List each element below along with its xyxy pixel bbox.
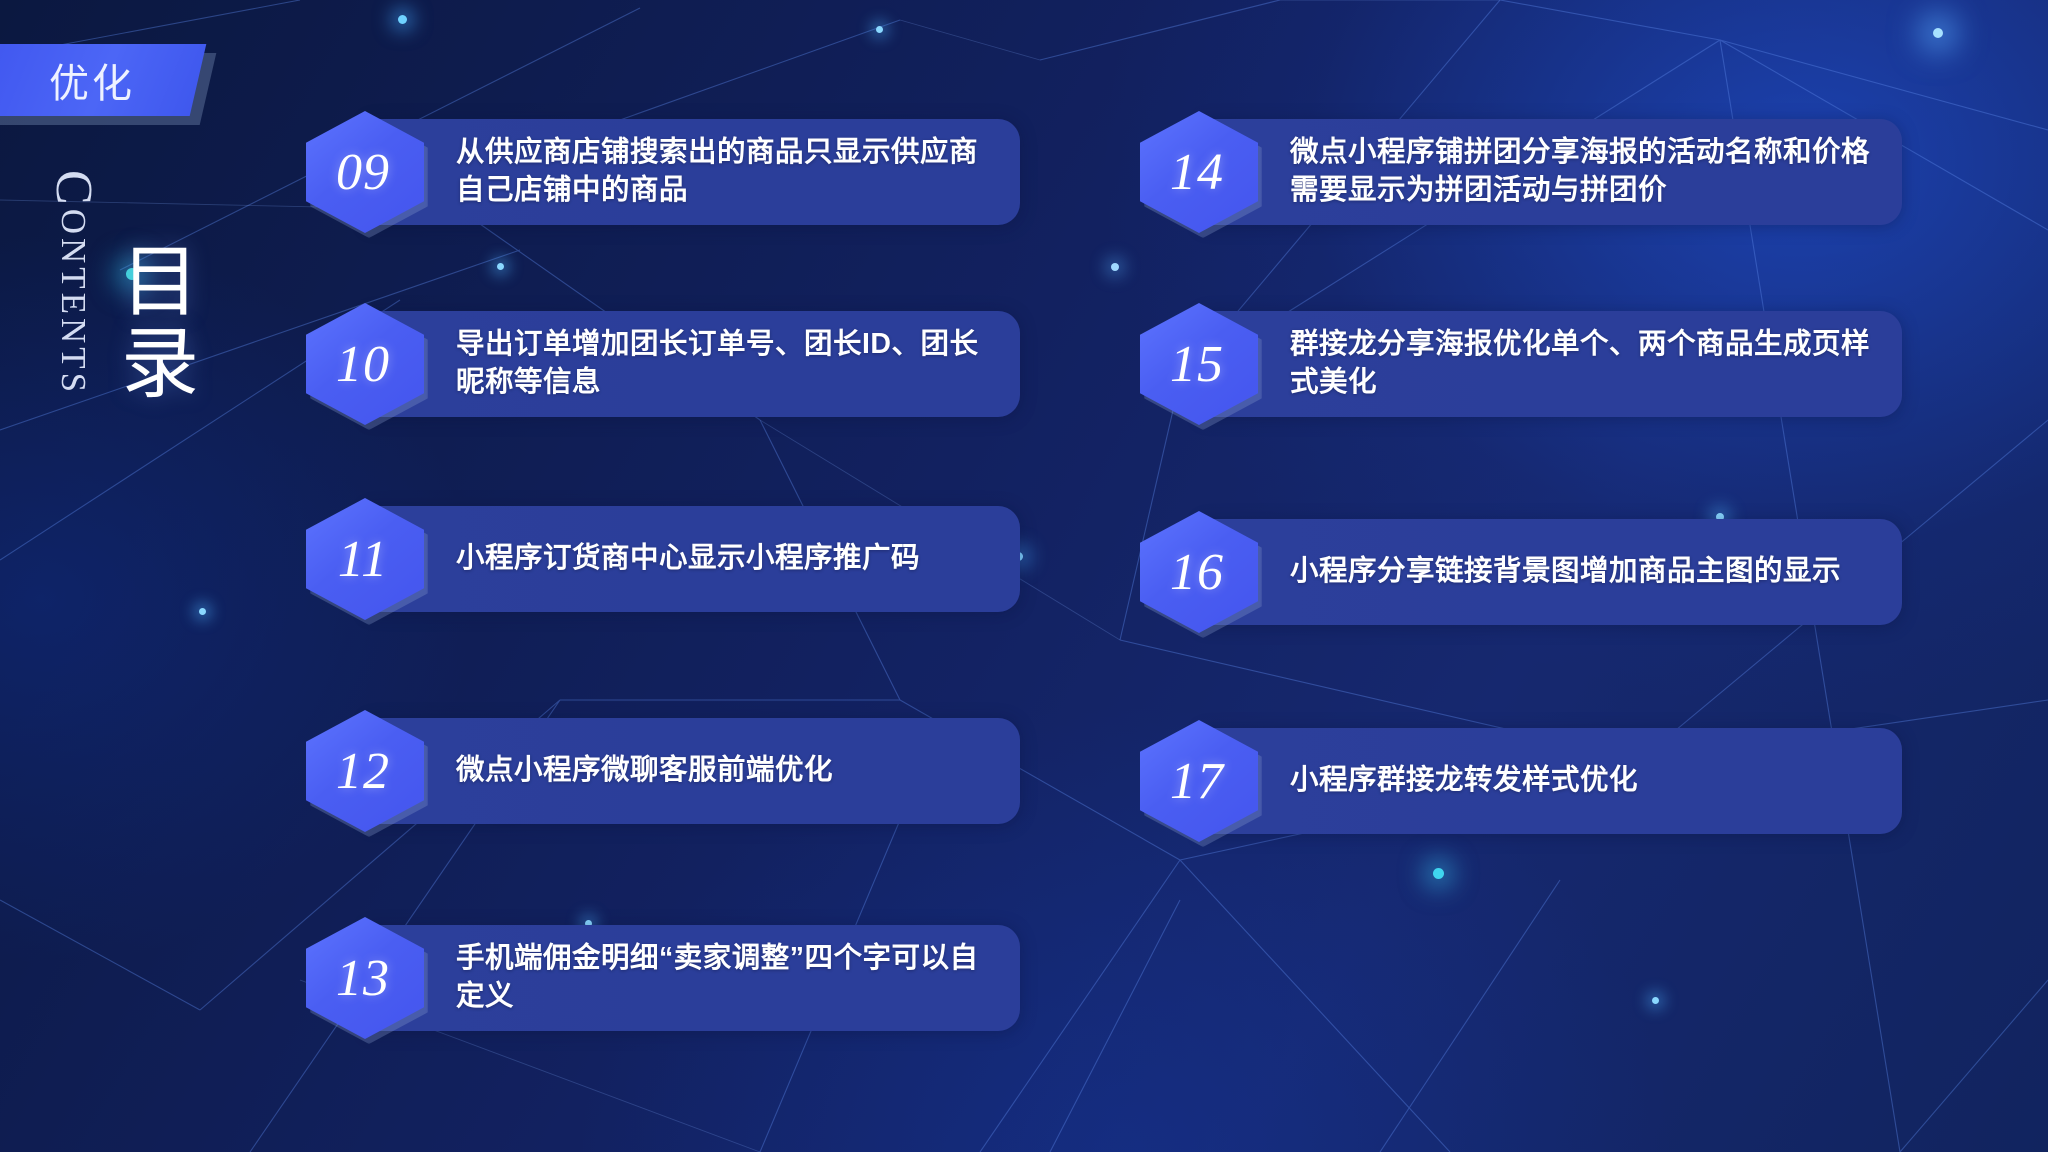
- toc-item-label: 微点小程序微聊客服前端优化: [456, 718, 986, 824]
- toc-item-label: 导出订单增加团长订单号、团长ID、团长昵称等信息: [456, 311, 986, 417]
- network-node-dot: [398, 15, 407, 24]
- toc-item-label: 群接龙分享海报优化单个、两个商品生成页样式美化: [1290, 311, 1875, 417]
- network-node-dot: [876, 26, 883, 33]
- toc-item-number: 14: [1170, 143, 1224, 202]
- toc-item-number: 10: [336, 335, 390, 394]
- presentation-slide: 优化 CONTENTS 目录 09 从供应商店铺搜索出的商品只显示供应商自己店铺…: [0, 0, 2048, 1152]
- network-node-dot: [1433, 868, 1444, 879]
- toc-item-number: 13: [336, 949, 390, 1008]
- toc-item-number: 17: [1170, 752, 1224, 811]
- contents-chinese-title: 目录: [108, 240, 200, 404]
- toc-item-label: 小程序分享链接背景图增加商品主图的显示: [1290, 519, 1875, 625]
- network-node-dot: [497, 263, 504, 270]
- network-node-dot: [1111, 263, 1119, 271]
- toc-item-label: 小程序订货商中心显示小程序推广码: [456, 506, 986, 612]
- toc-item-number: 15: [1170, 335, 1224, 394]
- toc-item-label: 小程序群接龙转发样式优化: [1290, 728, 1875, 834]
- toc-item-number: 16: [1170, 543, 1224, 602]
- toc-item-number: 09: [336, 143, 390, 202]
- toc-item-label: 微点小程序铺拼团分享海报的活动名称和价格需要显示为拼团活动与拼团价: [1290, 119, 1875, 225]
- contents-initial-letter: C: [45, 170, 102, 209]
- section-banner: 优化: [0, 44, 198, 116]
- network-node-dot: [199, 608, 206, 615]
- toc-item-number: 11: [338, 530, 388, 589]
- contents-remaining-letters: ONTENTS: [54, 209, 93, 396]
- toc-item-number: 12: [336, 742, 390, 801]
- toc-item-label: 手机端佣金明细“卖家调整”四个字可以自定义: [456, 925, 986, 1031]
- network-node-dot: [1652, 997, 1659, 1004]
- network-node-dot: [1933, 28, 1943, 38]
- toc-item-label: 从供应商店铺搜索出的商品只显示供应商自己店铺中的商品: [456, 119, 986, 225]
- banner-label: 优化: [0, 44, 198, 116]
- contents-english-label: CONTENTS: [44, 170, 103, 396]
